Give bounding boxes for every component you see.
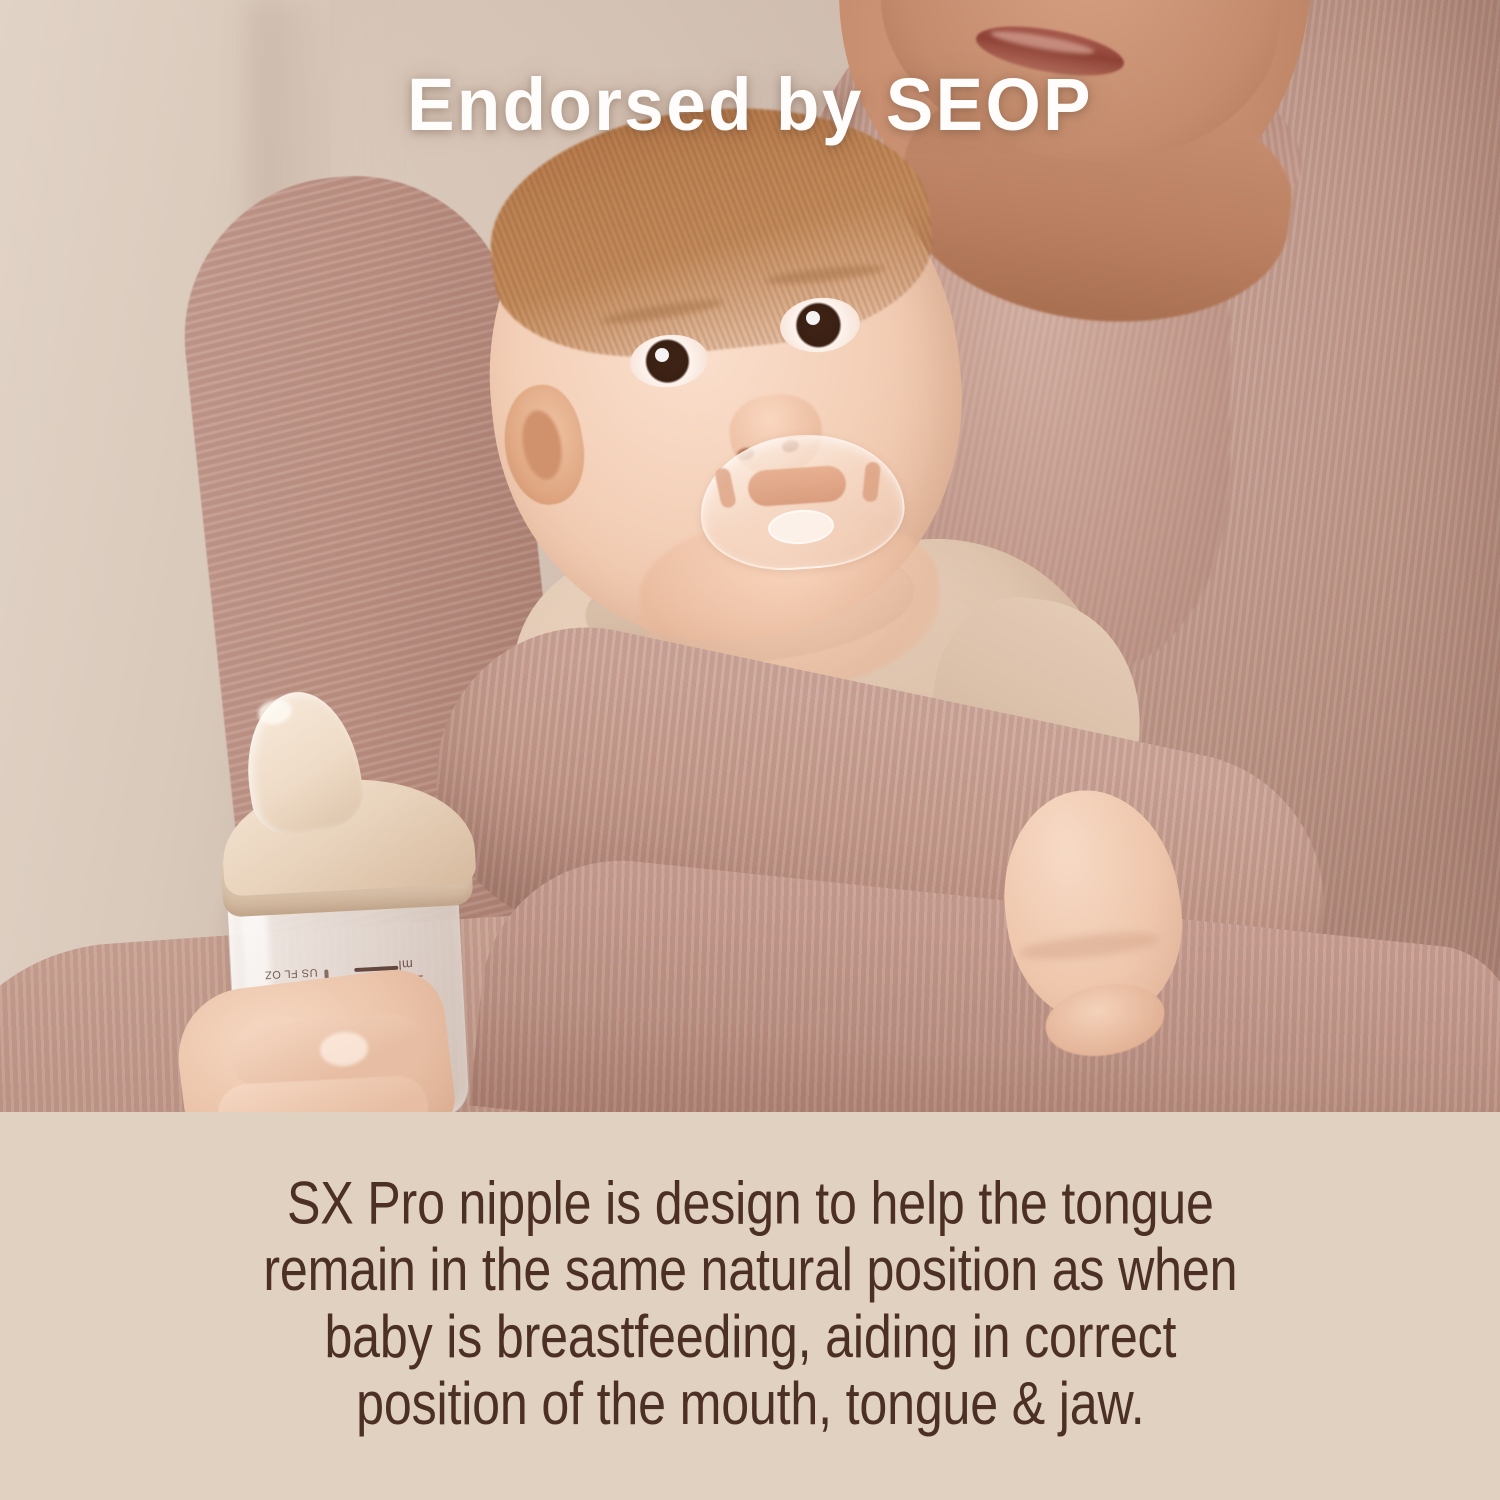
caption-line: position of the mouth, tongue & jaw. xyxy=(263,1371,1237,1438)
caption-text-block: SX Pro nipple is design to help the tong… xyxy=(263,1170,1237,1437)
product-ad-card: ml US FL OZ 100 30 25 20 NUVITA Endorsed… xyxy=(0,0,1500,1500)
baby-eye-highlight-right xyxy=(806,311,820,325)
caption-line: baby is breastfeeding, aiding in correct xyxy=(263,1304,1237,1371)
hero-photo: ml US FL OZ 100 30 25 20 NUVITA Endorsed… xyxy=(0,0,1500,1112)
caption-line: remain in the same natural position as w… xyxy=(263,1237,1237,1304)
baby-eye-highlight-left xyxy=(655,348,669,362)
headline-text: Endorsed by SEOP xyxy=(30,62,1470,147)
caption-line: SX Pro nipple is design to help the tong… xyxy=(263,1170,1237,1237)
caption-panel: SX Pro nipple is design to help the tong… xyxy=(0,1112,1500,1500)
pacifier-center xyxy=(747,465,847,508)
bottle-scale-unit-oz: US FL OZ xyxy=(264,966,318,981)
